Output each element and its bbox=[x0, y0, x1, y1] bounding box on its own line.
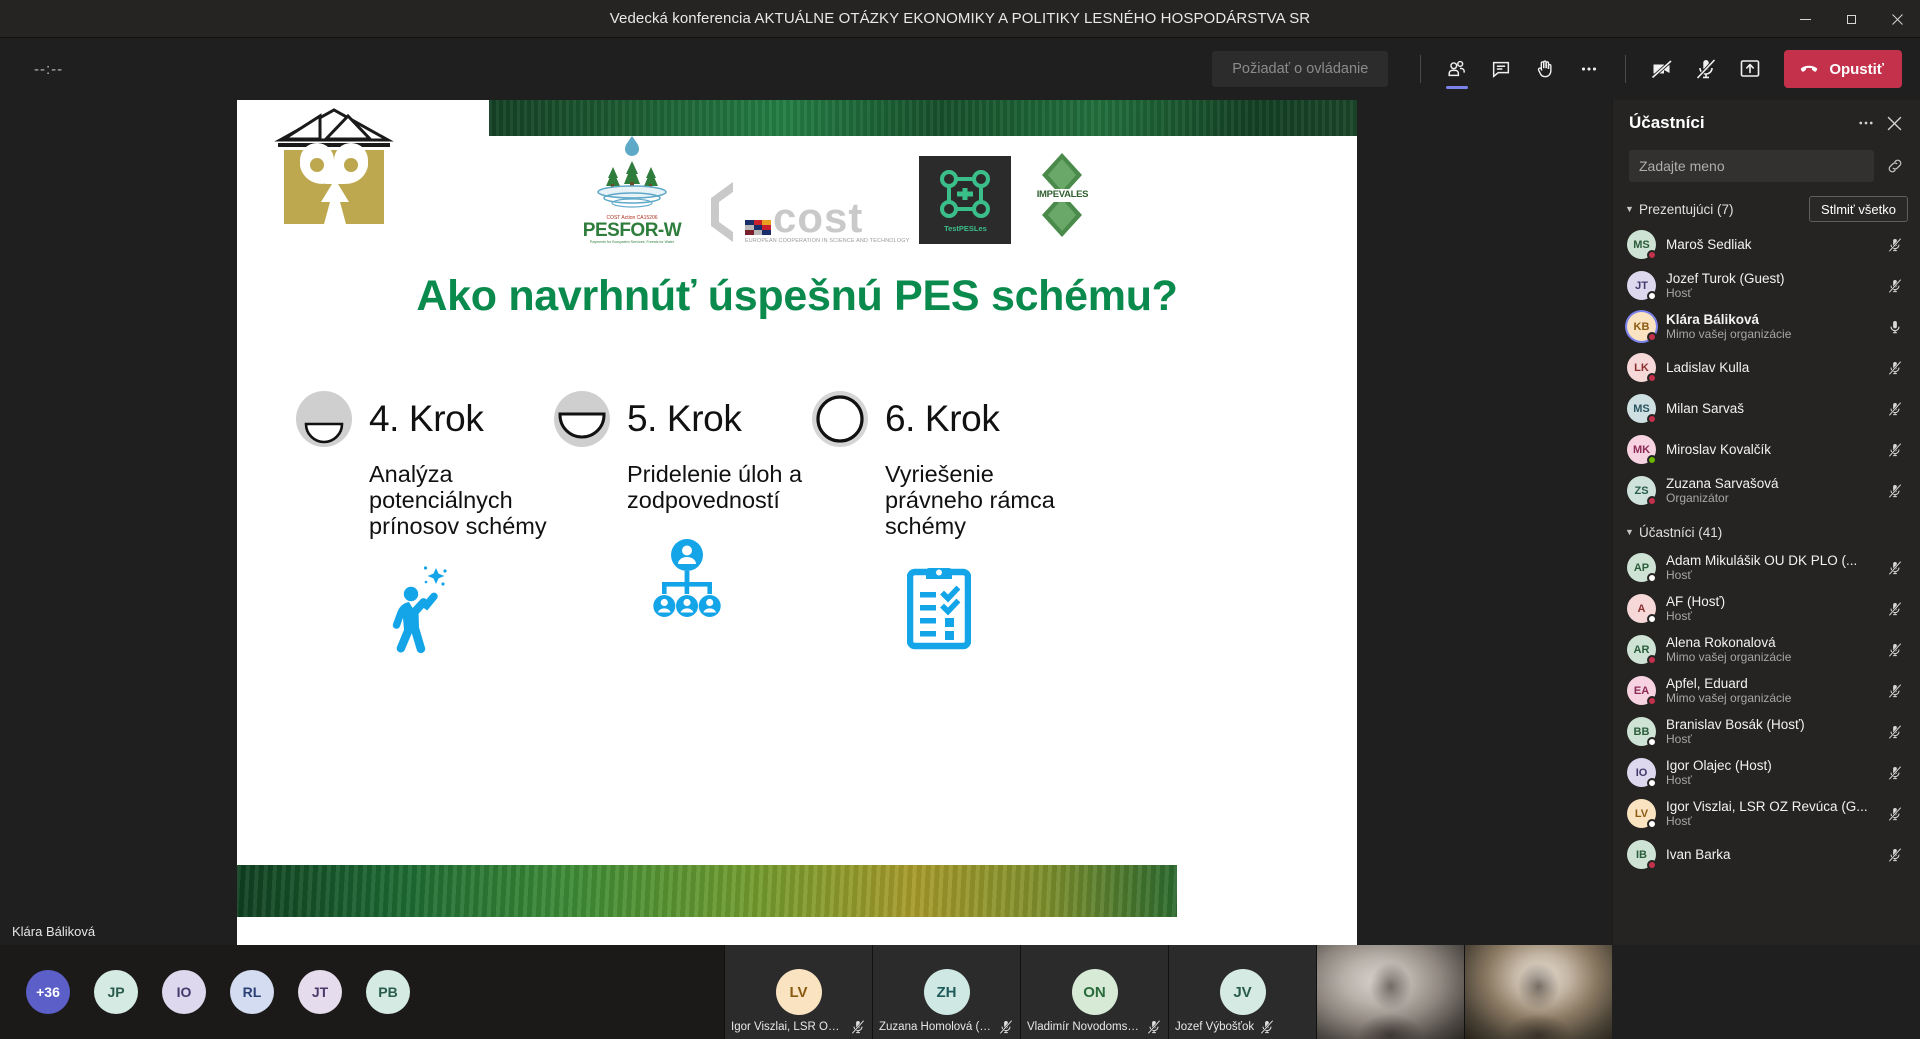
filmstrip-avatar-pill[interactable]: +36 bbox=[26, 970, 70, 1014]
mic-off-icon bbox=[1887, 237, 1903, 253]
presence-indicator bbox=[1647, 655, 1657, 665]
presence-indicator bbox=[1647, 496, 1657, 506]
section-header-attendees[interactable]: ▼ Účastníci (41) bbox=[1613, 517, 1920, 547]
impevales-label: IMPEVALES bbox=[1021, 189, 1103, 200]
participant-mic-toggle[interactable] bbox=[1884, 762, 1906, 784]
participant-mic-toggle[interactable] bbox=[1884, 275, 1906, 297]
presence-indicator bbox=[1647, 455, 1657, 465]
participant-info: Maroš Sedliak bbox=[1666, 237, 1874, 252]
participant-name: Klára Báliková bbox=[1666, 312, 1874, 327]
participant-mic-toggle[interactable] bbox=[1884, 844, 1906, 866]
tile-label: Igor Viszlai, LSR OZ Re... bbox=[731, 1019, 866, 1035]
avatar: ON bbox=[1072, 969, 1118, 1015]
participant-row[interactable]: JT Jozef Turok (Guest) Hosť bbox=[1613, 265, 1920, 306]
org-chart-icon bbox=[649, 538, 811, 627]
presence-indicator bbox=[1647, 614, 1657, 624]
participant-role: Mimo vašej organizácie bbox=[1666, 691, 1874, 705]
participants-list[interactable]: ▼ Prezentujúci (7) Stlmiť všetko MS Maro… bbox=[1613, 194, 1920, 945]
mic-off-icon bbox=[1887, 683, 1903, 699]
mic-off-icon bbox=[850, 1019, 866, 1035]
avatar: ZS bbox=[1627, 476, 1656, 505]
mic-off-icon bbox=[998, 1019, 1014, 1035]
phone-hangup-icon bbox=[1798, 58, 1820, 80]
avatar-initials: ZS bbox=[1634, 485, 1648, 497]
avatar-initials: JP bbox=[107, 984, 124, 1000]
participant-mic-toggle[interactable] bbox=[1884, 234, 1906, 256]
participant-mic-toggle[interactable] bbox=[1884, 680, 1906, 702]
mic-off-icon[interactable] bbox=[1684, 47, 1728, 91]
section-title-attendees: Účastníci (41) bbox=[1639, 525, 1908, 540]
pesfor-w-name: PESFOR-W bbox=[567, 221, 697, 240]
participant-row[interactable]: MS Milan Sarvaš bbox=[1613, 388, 1920, 429]
participant-row[interactable]: LK Ladislav Kulla bbox=[1613, 347, 1920, 388]
participant-role: Mimo vašej organizácie bbox=[1666, 650, 1874, 664]
window-title-bar: Vedecká konferencia AKTUÁLNE OTÁZKY EKON… bbox=[0, 0, 1920, 38]
presence-indicator bbox=[1647, 737, 1657, 747]
avatar: JV bbox=[1220, 969, 1266, 1015]
presence-indicator bbox=[1647, 373, 1657, 383]
participant-mic-toggle[interactable] bbox=[1884, 480, 1906, 502]
testpesles-label: TestPESLes bbox=[944, 224, 987, 233]
avatar: LV bbox=[776, 969, 822, 1015]
step-item-4: 4. Krok Analýza potenciálnych prínosov s… bbox=[295, 390, 553, 665]
avatar-initials: BB bbox=[1634, 726, 1650, 738]
presence-indicator bbox=[1647, 250, 1657, 260]
cost-subtitle: EUROPEAN COOPERATION IN SCIENCE AND TECH… bbox=[745, 238, 909, 244]
share-screen-icon[interactable] bbox=[1728, 47, 1772, 91]
filmstrip-spacer bbox=[436, 945, 724, 1039]
mic-on-icon bbox=[1887, 319, 1903, 335]
participant-name: Ladislav Kulla bbox=[1666, 360, 1874, 375]
participant-mic-toggle[interactable] bbox=[1884, 639, 1906, 661]
progress-dial-half-icon bbox=[553, 390, 611, 448]
people-icon[interactable] bbox=[1435, 47, 1479, 91]
maximize-icon[interactable] bbox=[1828, 0, 1874, 38]
more-options-icon[interactable] bbox=[1567, 47, 1611, 91]
avatar: EA bbox=[1627, 676, 1656, 705]
mic-off-icon bbox=[1887, 765, 1903, 781]
mic-off-icon bbox=[1259, 1019, 1275, 1035]
participant-name: Vladimír Novodomský... bbox=[1027, 1021, 1141, 1033]
avatar-initials: ON bbox=[1083, 984, 1106, 1001]
tile-mic-status bbox=[1146, 1019, 1162, 1035]
step-4-number: 4. Krok bbox=[369, 398, 483, 440]
avatar-initials: JT bbox=[312, 984, 328, 1000]
presence-indicator bbox=[1647, 332, 1657, 342]
close-panel-icon[interactable] bbox=[1880, 109, 1908, 137]
tile-mic-status bbox=[1259, 1019, 1275, 1035]
participant-row[interactable]: A AF (Hosť) Hosť bbox=[1613, 588, 1920, 629]
participant-row[interactable]: EA Apfel, Eduard Mimo vašej organizácie bbox=[1613, 670, 1920, 711]
avatar: MS bbox=[1627, 230, 1656, 259]
filmstrip-avatar-pills: +36JPIORLJTPB bbox=[0, 945, 436, 1039]
filmstrip-avatar-pill[interactable]: RL bbox=[230, 970, 274, 1014]
participant-name: AF (Hosť) bbox=[1666, 594, 1874, 609]
participant-row[interactable]: LV Igor Viszlai, LSR OZ Revúca (G... Hos… bbox=[1613, 793, 1920, 834]
avatar: LK bbox=[1627, 353, 1656, 382]
mic-off-icon bbox=[1887, 724, 1903, 740]
presentation-slide: COST Action CA15206 PESFOR-W Payments fo… bbox=[237, 100, 1357, 945]
participant-mic-toggle[interactable] bbox=[1884, 721, 1906, 743]
avatar-initials: MK bbox=[1633, 444, 1650, 456]
participants-panel: Účastníci ▼ Prezentujúci (7) Stlmiť všet… bbox=[1612, 100, 1920, 945]
slide-top-banner bbox=[489, 100, 1357, 136]
testpesles-logo: TestPESLes bbox=[919, 156, 1011, 244]
participant-name: Jozef Turok (Guest) bbox=[1666, 271, 1874, 286]
participant-mic-toggle[interactable] bbox=[1884, 316, 1906, 338]
impevales-logo: IMPEVALES bbox=[1021, 151, 1103, 244]
person-reaching-star-icon bbox=[391, 564, 553, 665]
progress-dial-empty-icon bbox=[811, 390, 869, 448]
avatar: ZH bbox=[924, 969, 970, 1015]
mic-off-icon bbox=[1887, 847, 1903, 863]
tile-label: Zuzana Homolová (Ho... bbox=[879, 1019, 1014, 1035]
step-6-description: Vyriešenie právneho rámca schémy bbox=[885, 462, 1070, 540]
avatar-initials: IO bbox=[177, 984, 192, 1000]
participant-name: Igor Viszlai, LSR OZ Re... bbox=[731, 1021, 845, 1033]
participant-info: AF (Hosť) Hosť bbox=[1666, 594, 1874, 623]
participant-row[interactable]: IO Igor Olajec (Host) Hosť bbox=[1613, 752, 1920, 793]
filmstrip-avatar-pill[interactable]: JP bbox=[94, 970, 138, 1014]
avatar: IO bbox=[1627, 758, 1656, 787]
avatar: KB bbox=[1627, 312, 1656, 341]
participant-row[interactable]: AP Adam Mikulášik OU DK PLO (... Hosť bbox=[1613, 547, 1920, 588]
step-5-number: 5. Krok bbox=[627, 398, 741, 440]
step-4-head: 4. Krok bbox=[295, 390, 553, 448]
slide-heading: Ako navrhnúť úspešnú PES schému? bbox=[237, 272, 1357, 321]
presence-indicator bbox=[1647, 819, 1657, 829]
participant-info: Apfel, Eduard Mimo vašej organizácie bbox=[1666, 676, 1874, 705]
participant-name: Alena Rokonalová bbox=[1666, 635, 1874, 650]
participant-info: Zuzana Sarvašová Organizátor bbox=[1666, 476, 1874, 505]
avatar: MS bbox=[1627, 394, 1656, 423]
window-controls bbox=[1782, 0, 1920, 38]
request-control-button[interactable]: Požiadať o ovládanie bbox=[1212, 51, 1388, 87]
participant-filmstrip: +36JPIORLJTPB LV Igor Viszlai, LSR OZ Re… bbox=[0, 945, 1612, 1039]
mute-all-button[interactable]: Stlmiť všetko bbox=[1809, 196, 1908, 222]
avatar-initials: IO bbox=[1636, 767, 1648, 779]
avatar-initials: +36 bbox=[36, 984, 60, 1000]
active-presenter-label: Klára Báliková bbox=[12, 924, 95, 939]
participant-row[interactable]: BB Branislav Bosák (Hosť) Hosť bbox=[1613, 711, 1920, 752]
avatar-initials: LV bbox=[1635, 808, 1648, 820]
participants-search-row bbox=[1613, 150, 1920, 182]
participant-mic-toggle[interactable] bbox=[1884, 557, 1906, 579]
participant-info: Ivan Barka bbox=[1666, 847, 1874, 862]
participant-mic-toggle[interactable] bbox=[1884, 439, 1906, 461]
tile-label: Vladimír Novodomský... bbox=[1027, 1019, 1162, 1035]
leave-call-label: Opustiť bbox=[1829, 61, 1884, 78]
avatar: LV bbox=[1627, 799, 1656, 828]
avatar-initials: JT bbox=[1635, 280, 1648, 292]
avatar-initials: IB bbox=[1636, 849, 1647, 861]
participant-role: Hosť bbox=[1666, 568, 1874, 582]
tile-mic-status bbox=[850, 1019, 866, 1035]
participant-row[interactable]: MK Miroslav Kovalčík bbox=[1613, 429, 1920, 470]
meeting-timer: --:-- bbox=[34, 61, 154, 78]
participants-panel-header: Účastníci bbox=[1613, 100, 1920, 146]
section-header-presenters[interactable]: ▼ Prezentujúci (7) Stlmiť všetko bbox=[1613, 194, 1920, 224]
chevron-down-icon: ▼ bbox=[1625, 204, 1639, 214]
participant-info: Branislav Bosák (Hosť) Hosť bbox=[1666, 717, 1874, 746]
participant-name: Maroš Sedliak bbox=[1666, 237, 1874, 252]
raise-hand-icon[interactable] bbox=[1523, 47, 1567, 91]
participant-role: Hosť bbox=[1666, 286, 1874, 300]
avatar: AR bbox=[1627, 635, 1656, 664]
filmstrip-avatar-pill[interactable]: PB bbox=[366, 970, 410, 1014]
avatar-initials: MS bbox=[1633, 403, 1650, 415]
presence-indicator bbox=[1647, 778, 1657, 788]
avatar-initials: LK bbox=[1634, 362, 1649, 374]
mic-off-icon bbox=[1887, 360, 1903, 376]
participant-search-input[interactable] bbox=[1629, 150, 1874, 182]
avatar: BB bbox=[1627, 717, 1656, 746]
camera-off-icon[interactable] bbox=[1640, 47, 1684, 91]
participant-info: Miroslav Kovalčík bbox=[1666, 442, 1874, 457]
presence-indicator bbox=[1647, 291, 1657, 301]
mic-off-icon bbox=[1887, 806, 1903, 822]
participant-mic-toggle[interactable] bbox=[1884, 803, 1906, 825]
filmstrip-video-tile[interactable]: Zuzana Sarvašová bbox=[1316, 945, 1464, 1039]
slide-bottom-banner bbox=[237, 865, 1177, 917]
participant-info: Adam Mikulášik OU DK PLO (... Hosť bbox=[1666, 553, 1874, 582]
close-icon[interactable] bbox=[1874, 0, 1920, 38]
participant-role: Hosť bbox=[1666, 814, 1874, 828]
step-5-description: Pridelenie úloh a zodpovedností bbox=[627, 462, 812, 514]
participant-name: Igor Viszlai, LSR OZ Revúca (G... bbox=[1666, 799, 1874, 814]
page-title: Vedecká konferencia AKTUÁLNE OTÁZKY EKON… bbox=[610, 10, 1311, 27]
avatar: A bbox=[1627, 594, 1656, 623]
participants-panel-title: Účastníci bbox=[1629, 113, 1852, 133]
tile-mic-status bbox=[998, 1019, 1014, 1035]
toolbar-divider-2 bbox=[1625, 55, 1626, 83]
participant-role: Hosť bbox=[1666, 732, 1874, 746]
presence-indicator bbox=[1647, 696, 1657, 706]
participant-row[interactable]: AR Alena Rokonalová Mimo vašej organizác… bbox=[1613, 629, 1920, 670]
presence-indicator bbox=[1647, 860, 1657, 870]
owl-logo bbox=[270, 106, 398, 226]
mic-off-icon bbox=[1887, 401, 1903, 417]
meeting-toolbar: --:-- Požiadať o ovládanie bbox=[0, 38, 1920, 100]
avatar-initials: A bbox=[1638, 603, 1646, 615]
presence-indicator bbox=[1647, 414, 1657, 424]
avatar-initials: RL bbox=[243, 984, 262, 1000]
mic-off-icon bbox=[1887, 642, 1903, 658]
tile-label: Jozef Výbošťok bbox=[1175, 1019, 1310, 1035]
participant-mic-toggle[interactable] bbox=[1884, 598, 1906, 620]
participant-info: Igor Viszlai, LSR OZ Revúca (G... Hosť bbox=[1666, 799, 1874, 828]
steps-row: 4. Krok Analýza potenciálnych prínosov s… bbox=[295, 390, 1325, 665]
step-6-head: 6. Krok bbox=[811, 390, 1069, 448]
participant-name: Miroslav Kovalčík bbox=[1666, 442, 1874, 457]
avatar-initials: AP bbox=[1634, 562, 1649, 574]
participant-row[interactable]: MS Maroš Sedliak bbox=[1613, 224, 1920, 265]
video-person-silhouette bbox=[1465, 945, 1612, 1039]
filmstrip-avatar-pill[interactable]: IO bbox=[162, 970, 206, 1014]
minimize-icon[interactable] bbox=[1782, 0, 1828, 38]
avatar-initials: ZH bbox=[937, 984, 957, 1001]
participant-mic-toggle[interactable] bbox=[1884, 357, 1906, 379]
participant-name: Milan Sarvaš bbox=[1666, 401, 1874, 416]
avatar-initials: KB bbox=[1634, 321, 1650, 333]
avatar: AP bbox=[1627, 553, 1656, 582]
filmstrip-participant-tile[interactable]: JV Jozef Výbošťok bbox=[1168, 945, 1316, 1039]
filmstrip-avatar-pill[interactable]: JT bbox=[298, 970, 342, 1014]
participant-name: Ivan Barka bbox=[1666, 847, 1874, 862]
mic-off-icon bbox=[1887, 442, 1903, 458]
chevron-down-icon: ▼ bbox=[1625, 527, 1639, 537]
participant-name: Igor Olajec (Host) bbox=[1666, 758, 1874, 773]
participant-info: Alena Rokonalová Mimo vašej organizácie bbox=[1666, 635, 1874, 664]
cost-logo: cost EUROPEAN COOPERATION IN SCIENCE AND… bbox=[707, 180, 909, 244]
presence-indicator bbox=[1647, 573, 1657, 583]
avatar-initials: EA bbox=[1634, 685, 1649, 697]
chat-icon[interactable] bbox=[1479, 47, 1523, 91]
filmstrip-video-tile[interactable]: Klára Báliková bbox=[1464, 945, 1612, 1039]
participant-name: Apfel, Eduard bbox=[1666, 676, 1874, 691]
filmstrip-participant-tile[interactable]: LV Igor Viszlai, LSR OZ Re... bbox=[724, 945, 872, 1039]
avatar: IB bbox=[1627, 840, 1656, 869]
share-invite-link-icon[interactable] bbox=[1882, 153, 1908, 179]
participant-info: Klára Báliková Mimo vašej organizácie bbox=[1666, 312, 1874, 341]
cost-wordmark: cost bbox=[773, 202, 863, 235]
participant-role: Organizátor bbox=[1666, 491, 1874, 505]
participant-name: Zuzana Homolová (Ho... bbox=[879, 1021, 993, 1033]
avatar-initials: MS bbox=[1633, 239, 1650, 251]
participant-mic-toggle[interactable] bbox=[1884, 398, 1906, 420]
avatar-initials: AR bbox=[1634, 644, 1650, 656]
step-5-head: 5. Krok bbox=[553, 390, 811, 448]
participant-info: Igor Olajec (Host) Hosť bbox=[1666, 758, 1874, 787]
avatar-initials: JV bbox=[1233, 984, 1251, 1001]
mic-off-icon bbox=[1887, 560, 1903, 576]
leave-call-button[interactable]: Opustiť bbox=[1784, 50, 1902, 88]
participant-name: Adam Mikulášik OU DK PLO (... bbox=[1666, 553, 1874, 568]
participant-role: Hosť bbox=[1666, 609, 1874, 623]
participant-info: Jozef Turok (Guest) Hosť bbox=[1666, 271, 1874, 300]
participant-info: Milan Sarvaš bbox=[1666, 401, 1874, 416]
step-4-description: Analýza potenciálnych prínosov schémy bbox=[369, 462, 554, 540]
avatar: MK bbox=[1627, 435, 1656, 464]
more-options-icon[interactable] bbox=[1852, 109, 1880, 137]
step-item-6: 6. Krok Vyriešenie právneho rámca schémy bbox=[811, 390, 1069, 665]
filmstrip-tiles: LV Igor Viszlai, LSR OZ Re... ZH Zuzana … bbox=[724, 945, 1612, 1039]
pesfor-w-logo: COST Action CA15206 PESFOR-W Payments fo… bbox=[567, 132, 697, 244]
filmstrip-participant-tile[interactable]: ON Vladimír Novodomský... bbox=[1020, 945, 1168, 1039]
participant-row[interactable]: IB Ivan Barka bbox=[1613, 834, 1920, 875]
participant-name: Jozef Výbošťok bbox=[1175, 1021, 1254, 1033]
avatar-initials: PB bbox=[378, 984, 397, 1000]
mic-off-icon bbox=[1887, 483, 1903, 499]
step-item-5: 5. Krok Pridelenie úloh a zodpovedností bbox=[553, 390, 811, 665]
participant-row[interactable]: KB Klára Báliková Mimo vašej organizácie bbox=[1613, 306, 1920, 347]
filmstrip-participant-tile[interactable]: ZH Zuzana Homolová (Ho... bbox=[872, 945, 1020, 1039]
toolbar-divider-1 bbox=[1420, 55, 1421, 83]
participant-info: Ladislav Kulla bbox=[1666, 360, 1874, 375]
partner-logos: COST Action CA15206 PESFOR-W Payments fo… bbox=[567, 132, 1103, 244]
participant-role: Mimo vašej organizácie bbox=[1666, 327, 1874, 341]
participant-name: Branislav Bosák (Hosť) bbox=[1666, 717, 1874, 732]
mic-off-icon bbox=[1887, 601, 1903, 617]
participant-row[interactable]: ZS Zuzana Sarvašová Organizátor bbox=[1613, 470, 1920, 511]
mic-off-icon bbox=[1146, 1019, 1162, 1035]
video-person-silhouette bbox=[1317, 945, 1464, 1039]
avatar-initials: LV bbox=[789, 984, 807, 1001]
participant-role: Hosť bbox=[1666, 773, 1874, 787]
progress-dial-quarter-icon bbox=[295, 390, 353, 448]
clipboard-checklist-icon bbox=[907, 564, 1069, 655]
section-title-presenters: Prezentujúci (7) bbox=[1639, 202, 1809, 217]
mic-off-icon bbox=[1887, 278, 1903, 294]
avatar: JT bbox=[1627, 271, 1656, 300]
shared-content-stage: COST Action CA15206 PESFOR-W Payments fo… bbox=[0, 100, 1612, 945]
step-6-number: 6. Krok bbox=[885, 398, 999, 440]
participant-name: Zuzana Sarvašová bbox=[1666, 476, 1874, 491]
